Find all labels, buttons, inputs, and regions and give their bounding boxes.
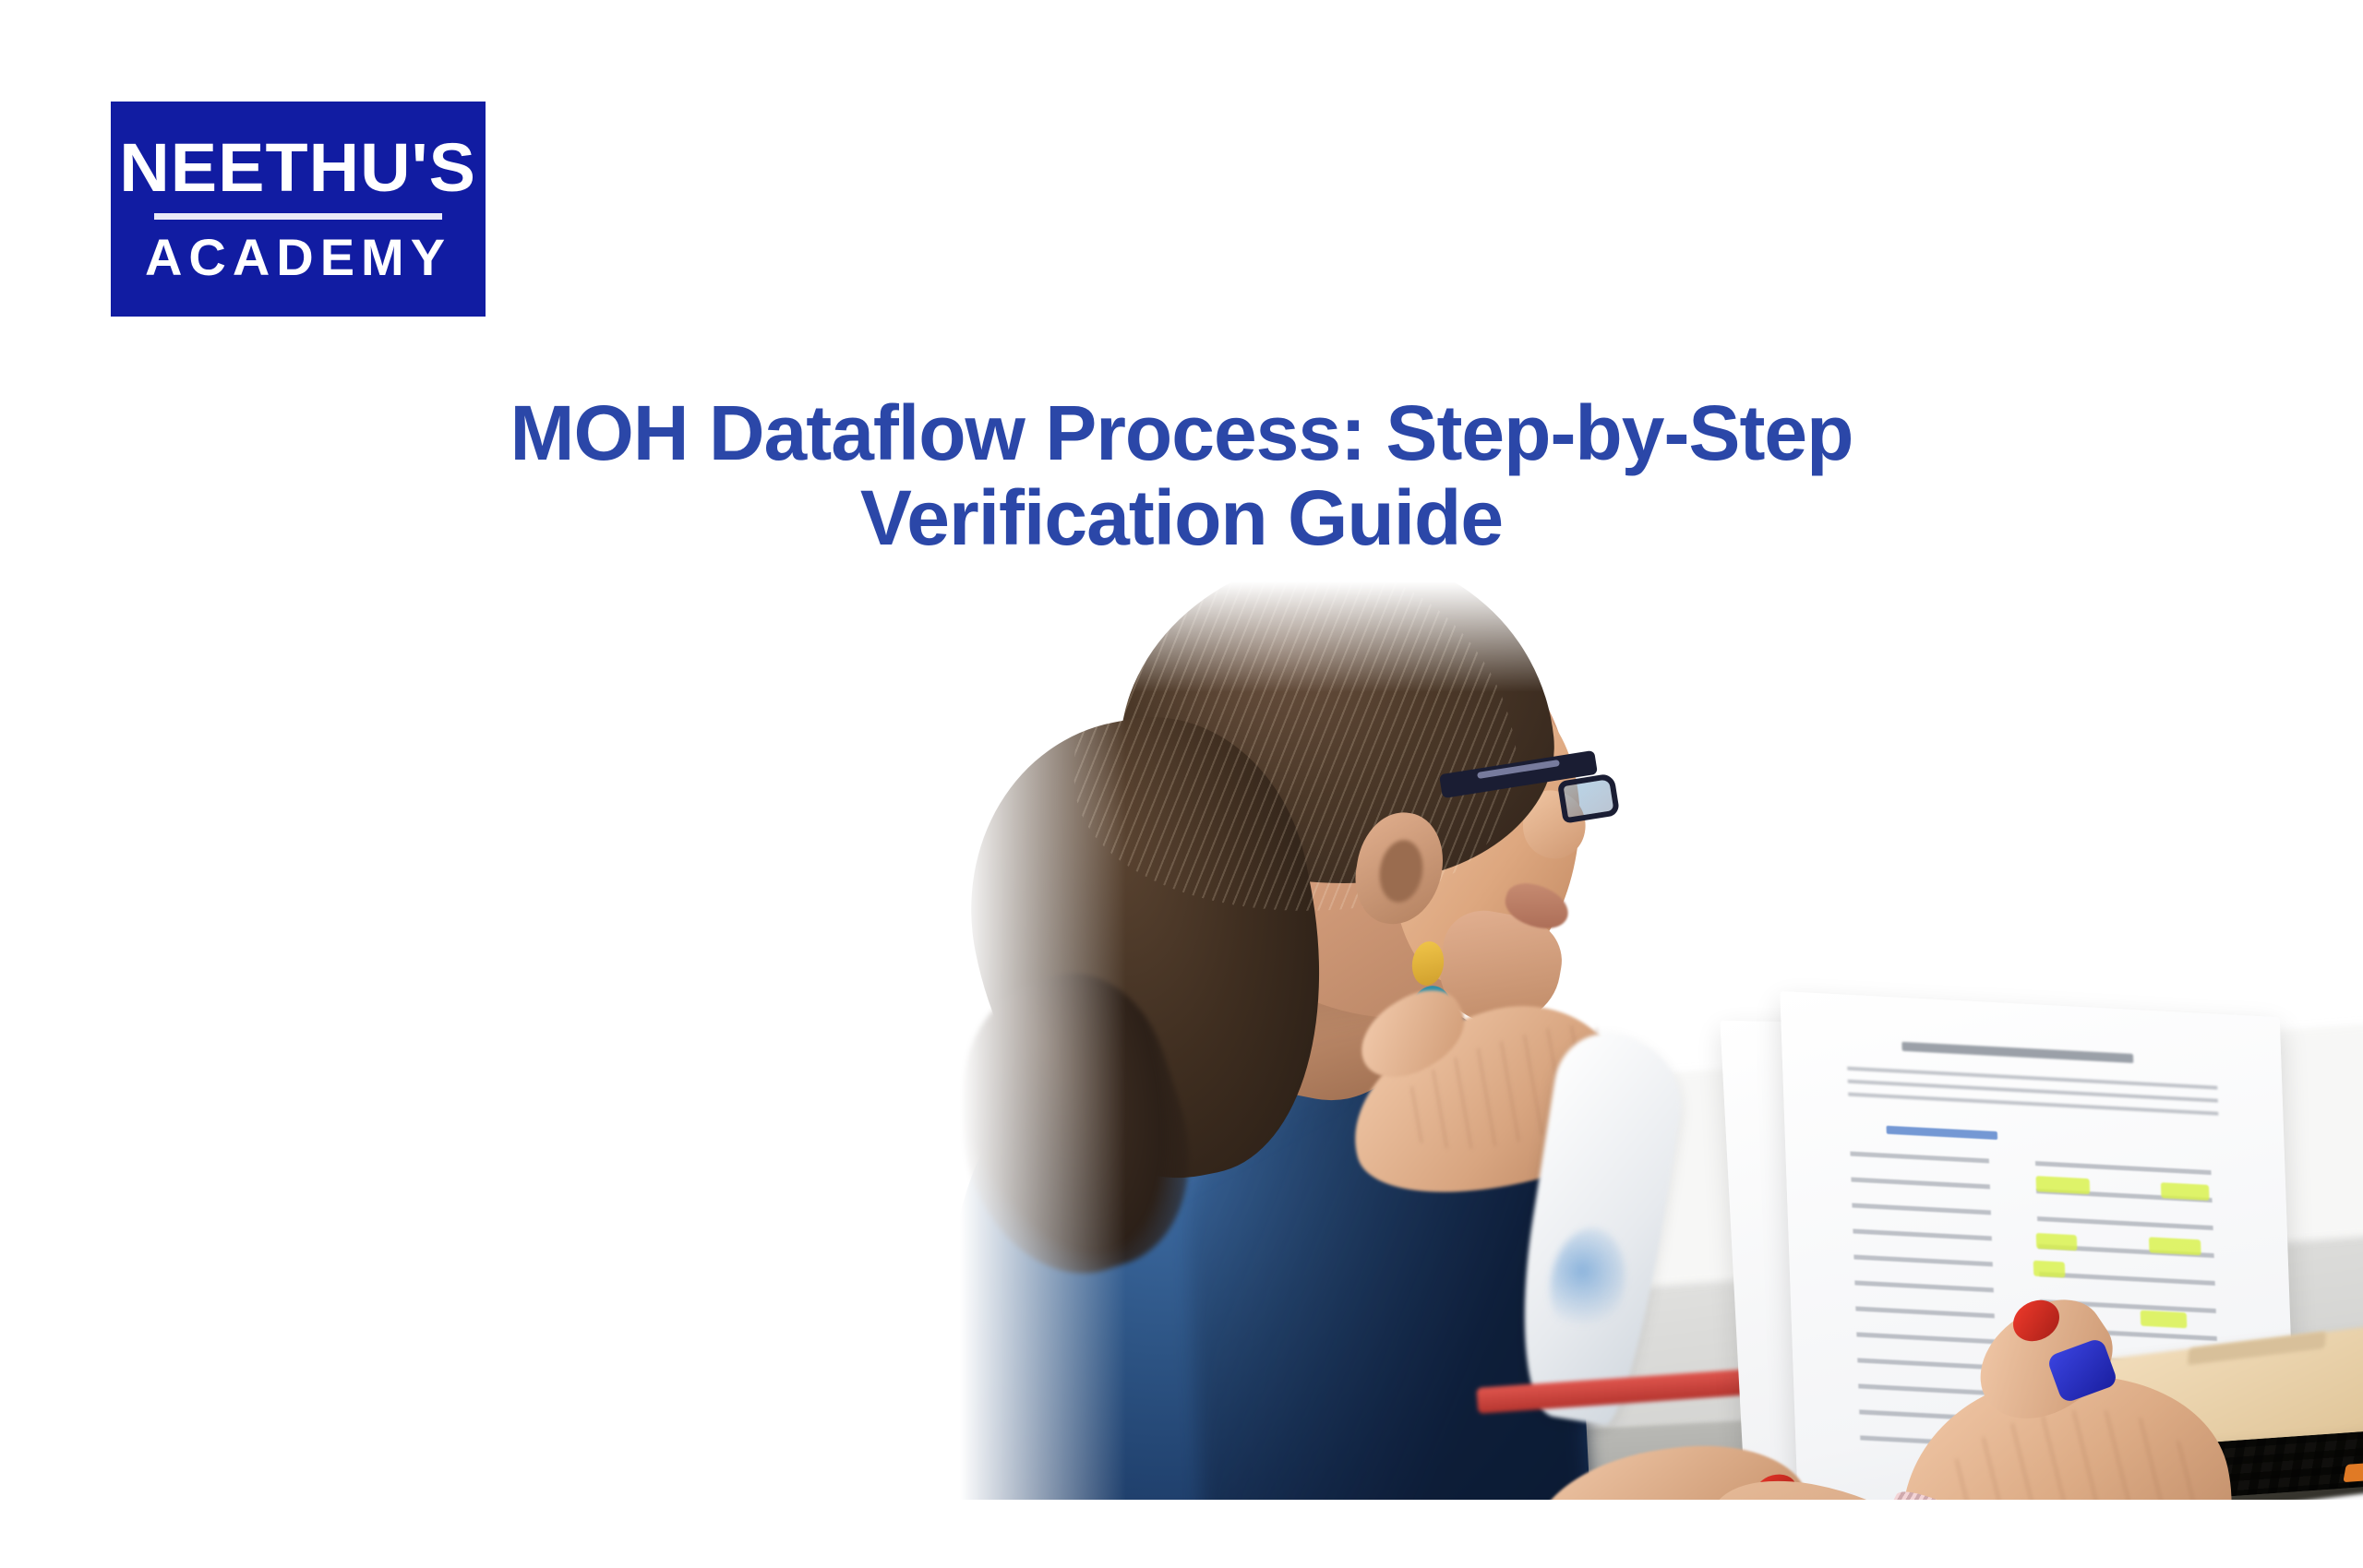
highlight-mark	[2149, 1237, 2201, 1255]
highlight-mark	[2161, 1182, 2210, 1201]
photo-bottom-crop	[960, 1500, 2363, 1537]
document-title-line	[1901, 1042, 2133, 1063]
document-paragraph	[1847, 1067, 2218, 1125]
hero-photo	[960, 581, 2363, 1537]
eyeglasses-lens	[1557, 772, 1620, 823]
logo-brand-subtitle: ACADEMY	[145, 232, 451, 283]
highlight-mark	[2035, 1176, 2090, 1194]
page-title: MOH Dataflow Process: Step-by-Step Verif…	[0, 391, 2363, 560]
logo-divider	[154, 213, 442, 220]
neethus-academy-logo[interactable]: NEETHU'S ACADEMY	[111, 102, 486, 317]
highlight-mark	[2033, 1261, 2066, 1278]
calculator-orange-key	[2343, 1463, 2363, 1482]
logo-brand-name: NEETHU'S	[120, 135, 477, 202]
photo-top-fade	[960, 581, 2363, 692]
photo-left-fade	[960, 581, 1126, 1537]
page-title-line-2: Verification Guide	[305, 476, 2058, 561]
photo-scene	[960, 581, 2363, 1537]
highlight-mark	[2036, 1233, 2078, 1251]
document-section-heading	[1887, 1126, 1998, 1140]
highlight-mark	[2141, 1311, 2188, 1329]
page-title-line-1: MOH Dataflow Process: Step-by-Step	[305, 391, 2058, 476]
